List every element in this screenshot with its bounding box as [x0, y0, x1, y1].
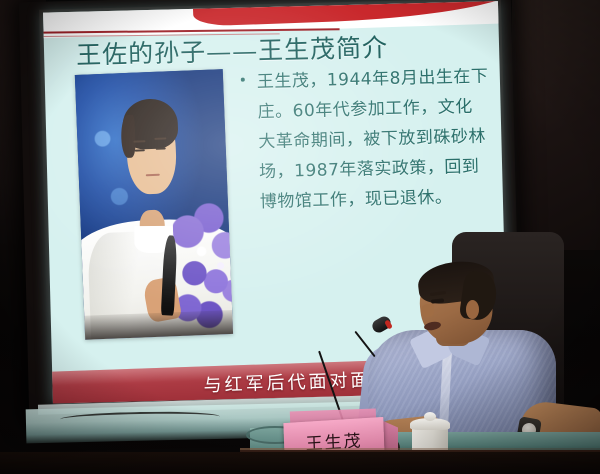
teacup-lid-knob — [424, 412, 436, 421]
speaker-nose — [421, 304, 434, 317]
portrait-photo-hair-side — [121, 115, 136, 158]
desk-front-panel — [0, 452, 600, 474]
conference-room-scene: 王佐的孙子——王生茂简介 — [0, 0, 600, 474]
speaker-ear — [466, 300, 479, 319]
slide-bullet-text: 王生茂，1944年8月出生在下庄。60年代参加工作，文化大革命期间，被下放到硃砂… — [257, 61, 493, 217]
portrait-photo-bottom-shadow — [84, 310, 233, 340]
portrait-photo-eye-right — [155, 147, 165, 150]
bullet-dot-icon — [241, 78, 245, 82]
portrait-photo — [75, 69, 233, 340]
